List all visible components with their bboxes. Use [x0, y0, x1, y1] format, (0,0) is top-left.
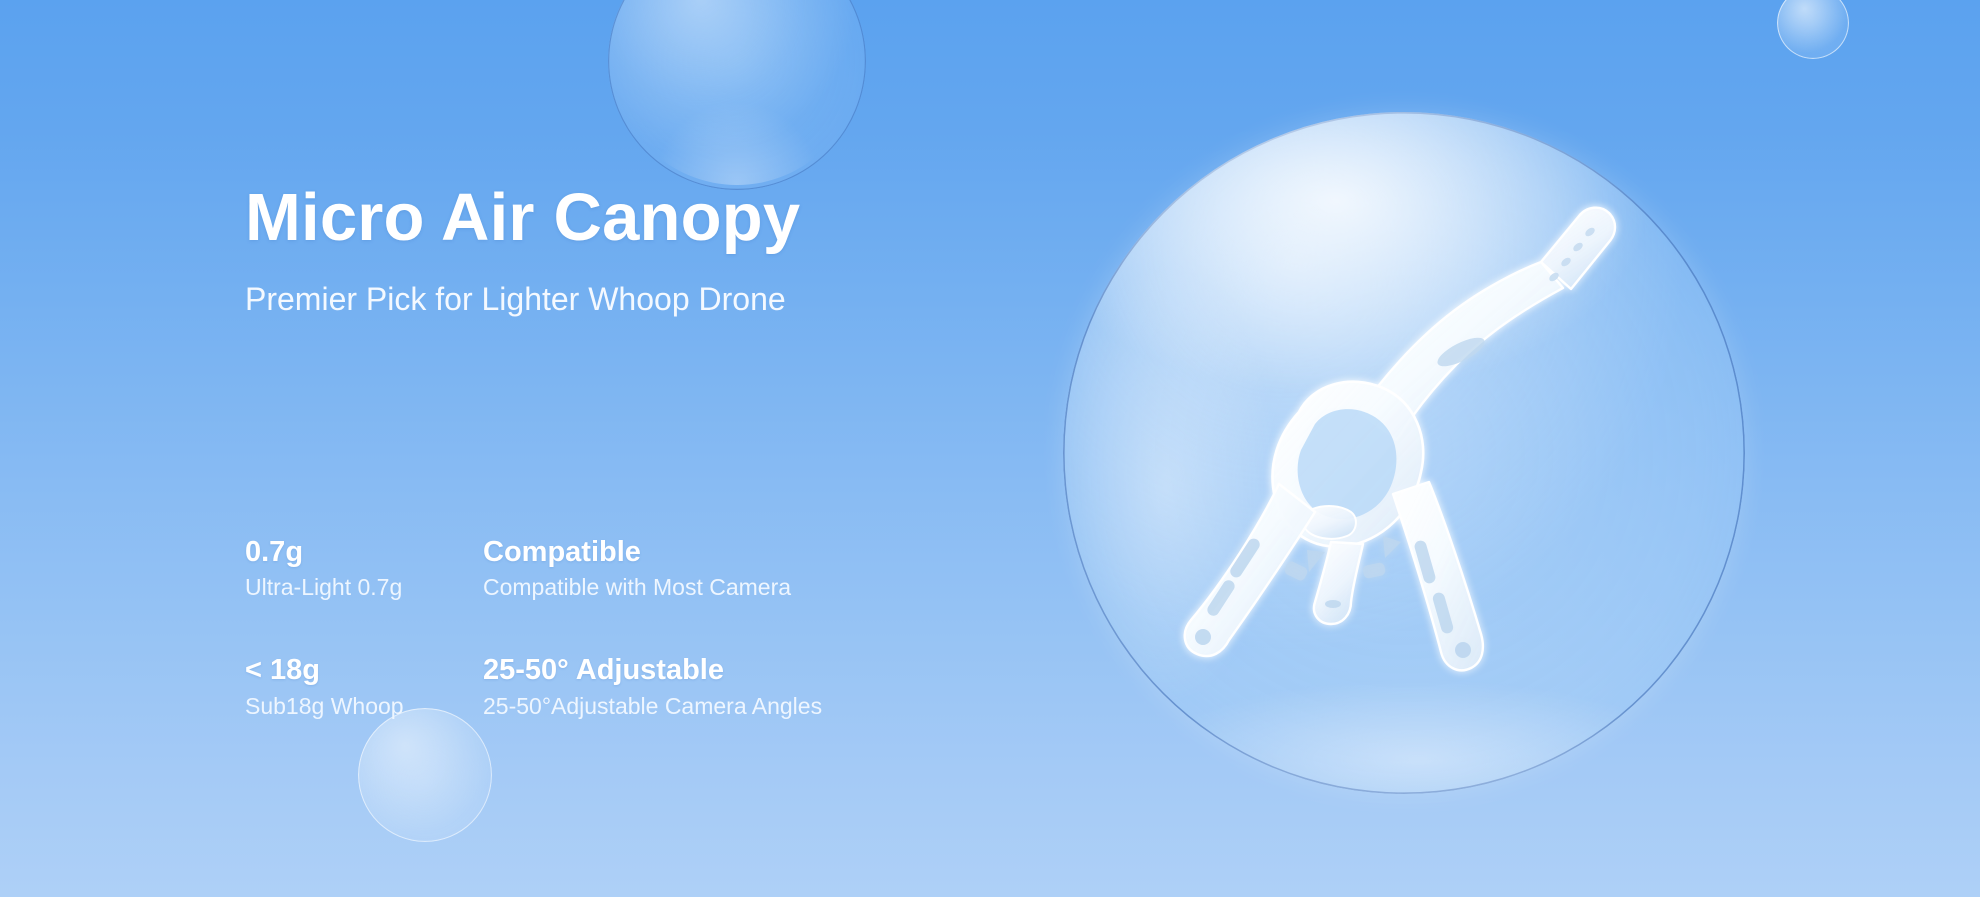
feature-list: 0.7g Ultra-Light 0.7g Compatible Compati…: [245, 536, 1025, 719]
feature-item-compatible: Compatible Compatible with Most Camera: [483, 536, 1025, 601]
feature-desc: Compatible with Most Camera: [483, 575, 1025, 601]
feature-title: < 18g: [245, 654, 483, 686]
page-title: Micro Air Canopy: [245, 184, 800, 251]
feature-desc: Ultra-Light 0.7g: [245, 575, 483, 601]
feature-item-adjustable-angle: 25-50° Adjustable 25-50°Adjustable Camer…: [483, 654, 1025, 719]
bubble-top-right-icon: [1777, 0, 1849, 59]
product-banner: Micro Air Canopy Premier Pick for Lighte…: [0, 0, 1980, 897]
feature-row: 0.7g Ultra-Light 0.7g Compatible Compati…: [245, 536, 1025, 601]
banner-copy: Micro Air Canopy Premier Pick for Lighte…: [245, 0, 1145, 897]
feature-desc: 25-50°Adjustable Camera Angles: [483, 694, 1025, 720]
product-image-drone-camera-canopy-mount: [1063, 112, 1745, 794]
feature-item-sub18g: < 18g Sub18g Whoop: [245, 654, 483, 719]
feature-item-weight: 0.7g Ultra-Light 0.7g: [245, 536, 483, 601]
feature-title: Compatible: [483, 536, 1025, 568]
feature-title: 25-50° Adjustable: [483, 654, 1025, 686]
feature-desc: Sub18g Whoop: [245, 694, 483, 720]
page-subtitle: Premier Pick for Lighter Whoop Drone: [245, 283, 786, 315]
feature-row: < 18g Sub18g Whoop 25-50° Adjustable 25-…: [245, 654, 1025, 719]
feature-title: 0.7g: [245, 536, 483, 568]
